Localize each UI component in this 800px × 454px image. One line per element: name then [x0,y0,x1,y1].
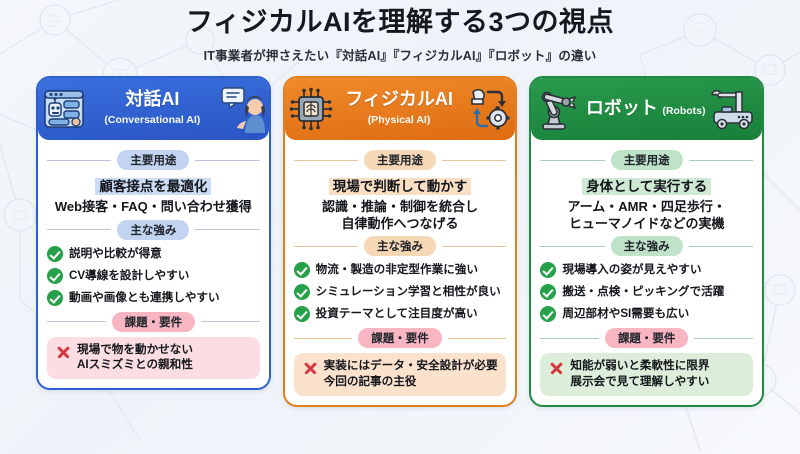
challenge-section-header: 課題・要件 [540,328,753,348]
challenge-pill-label: 課題・要件 [358,328,442,348]
challenge-text: 知能が弱いと柔軟性に限界 展示会で見て理解しやすい [570,358,709,389]
list-item: 搬送・点検・ピッキングで活躍 [540,284,753,300]
list-item: 周辺部材やSI需要も広い [540,306,753,322]
page-subtitle: IT事業者が押さえたい『対話AI』『フィジカルAI』『ロボット』の違い [0,45,800,64]
rule-left [47,229,111,230]
check-circle-icon [47,268,63,284]
use-section-header: 主要用途 [540,150,753,170]
comparison-cards-row: 対話AI (Conversational AI) [0,64,800,407]
check-circle-icon [294,284,310,300]
strength-pill-label: 主な強み [364,236,436,256]
rule-left [540,160,604,161]
cross-icon [55,344,71,360]
check-circle-icon [47,246,63,262]
challenge-pill-label: 課題・要件 [112,312,196,332]
strength-section-header: 主な強み [540,236,753,256]
use-sub-text: 認識・推論・制御を統合し 自律動作へつなげる [294,199,507,232]
card-robots[interactable]: ロボット (Robots) [529,76,764,407]
list-item: 説明や比較が得意 [47,246,260,262]
challenge-text: 実装にはデータ・安全設計が必要 今回の記事の主役 [324,358,498,389]
strength-section-header: 主な強み [294,236,507,256]
card-title-jp: 対話AI [125,89,179,109]
list-item: 現場導入の姿が見えやすい [540,262,753,278]
card-header-conversational-ai: 対話AI (Conversational AI) [38,78,269,140]
rule-left [294,246,358,247]
card-body-physical-ai: 主要用途 現場で判断して動かす 認識・推論・制御を統合し 自律動作へつなげる 主… [285,140,516,405]
card-physical-ai[interactable]: フィジカルAI (Physical AI) [283,76,518,407]
strength-section-header: 主な強み [47,220,260,240]
card-title-block: 対話AI (Conversational AI) [86,90,219,128]
card-title-en: (Robots) [662,105,705,117]
strength-list: 説明や比較が得意 CV導線を設計しやすい 動画や画像とも連携しやすい [47,246,260,306]
card-header-physical-ai: フィジカルAI (Physical AI) [285,78,516,140]
use-pill-label: 主要用途 [611,150,683,170]
list-item: 動画や画像とも連携しやすい [47,290,260,306]
cross-icon [302,360,318,376]
rule-left [294,160,358,161]
rule-left [540,338,599,339]
use-pill-label: 主要用途 [364,150,436,170]
rule-left [294,338,353,339]
rule-left [47,160,111,161]
challenge-section-header: 課題・要件 [47,312,260,332]
strength-pill-label: 主な強み [117,220,189,240]
check-circle-icon [294,306,310,322]
robot-arm-icon [535,86,583,132]
challenge-box: 知能が弱いと柔軟性に限界 展示会で見て理解しやすい [540,353,753,396]
check-circle-icon [540,262,556,278]
chat-window-robot-icon [42,87,86,131]
rule-right [448,338,507,339]
card-title-jp: ロボット [586,98,658,118]
amr-vehicle-icon [708,86,758,132]
strength-pill-label: 主な強み [611,236,683,256]
use-section-header: 主要用途 [47,150,260,170]
check-circle-icon [47,290,63,306]
card-conversational-ai[interactable]: 対話AI (Conversational AI) [36,76,271,390]
check-circle-icon [294,262,310,278]
cross-icon [548,360,564,376]
rule-right [442,246,506,247]
card-title-block: ロボット (Robots) [583,99,708,119]
rule-right [195,160,259,161]
challenge-text: 現場で物を動かせない AIスミズミとの親和性 [77,342,193,373]
challenge-box: 現場で物を動かせない AIスミズミとの親和性 [47,337,260,380]
challenge-section-header: 課題・要件 [294,328,507,348]
list-item: 物流・製造の非定型作業に強い [294,262,507,278]
check-circle-icon [540,284,556,300]
use-main-text: 顧客接点を最適化 [47,175,260,196]
ai-chip-brain-icon [289,87,333,131]
card-title-jp: フィジカルAI [345,89,453,109]
card-body-robots: 主要用途 身体として実行する アーム・AMR・四足歩行・ ヒューマノイドなどの実… [531,140,762,405]
card-title-en: (Conversational AI) [104,114,200,126]
page-title: フィジカルAIを理解する3つの視点 [0,7,800,38]
person-speech-bubble-icon [219,85,265,133]
use-sub-text: Web接客・FAQ・問い合わせ獲得 [47,199,260,216]
list-item: シミュレーション学習と相性が良い [294,284,507,300]
rule-right [689,160,753,161]
challenge-box: 実装にはデータ・安全設計が必要 今回の記事の主役 [294,353,507,396]
gear-cycle-hand-icon [465,86,511,132]
list-item: 投資テーマとして注目度が高い [294,306,507,322]
card-title-block: フィジカルAI (Physical AI) [333,90,466,128]
rule-right [442,160,506,161]
use-pill-label: 主要用途 [117,150,189,170]
card-body-conversational-ai: 主要用途 顧客接点を最適化 Web接客・FAQ・問い合わせ獲得 主な強み 説明や… [38,140,269,388]
rule-right [201,321,260,322]
list-item: CV導線を設計しやすい [47,268,260,284]
rule-right [195,229,259,230]
strength-list: 物流・製造の非定型作業に強い シミュレーション学習と相性が良い 投資テーマとして… [294,262,507,322]
challenge-pill-label: 課題・要件 [605,328,689,348]
check-circle-icon [540,306,556,322]
strength-list: 現場導入の姿が見えやすい 搬送・点検・ピッキングで活躍 周辺部材やSI需要も広い [540,262,753,322]
rule-right [694,338,753,339]
use-main-text: 身体として実行する [540,175,753,196]
rule-left [47,321,106,322]
card-title-en: (Physical AI) [368,114,431,126]
rule-right [689,246,753,247]
use-section-header: 主要用途 [294,150,507,170]
card-header-robots: ロボット (Robots) [531,78,762,140]
use-main-text: 現場で判断して動かす [294,175,507,196]
page-header: フィジカルAIを理解する3つの視点 IT事業者が押さえたい『対話AI』『フィジカ… [0,0,800,64]
use-sub-text: アーム・AMR・四足歩行・ ヒューマノイドなどの実機 [540,199,753,232]
rule-left [540,246,604,247]
